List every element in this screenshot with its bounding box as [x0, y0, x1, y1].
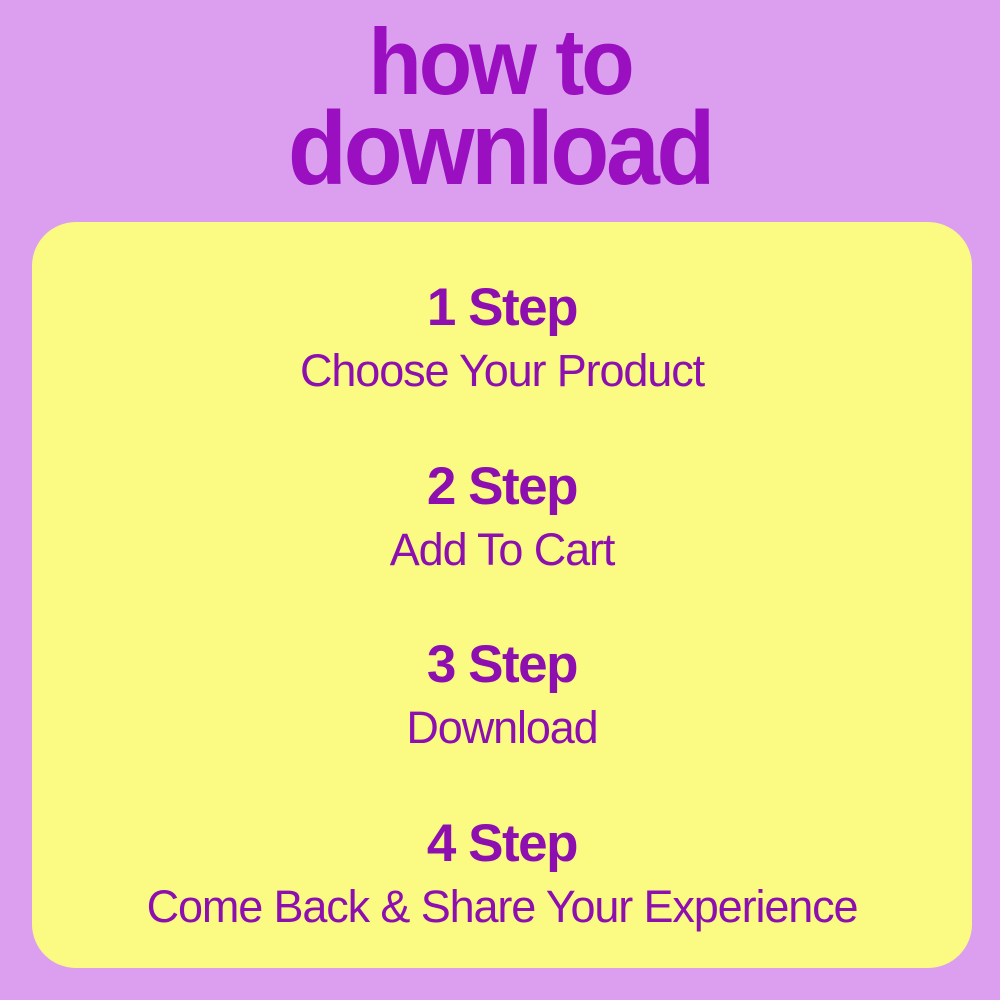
- step-item-2: 2 Step Add To Cart: [32, 459, 972, 576]
- step-2-title: 2 Step: [32, 459, 972, 514]
- step-4-description: Come Back & Share Your Experience: [32, 882, 972, 932]
- step-2-description: Add To Cart: [32, 525, 972, 575]
- step-3-description: Download: [32, 703, 972, 753]
- step-3-title: 3 Step: [32, 637, 972, 692]
- step-4-title: 4 Step: [32, 816, 972, 871]
- step-item-1: 1 Step Choose Your Product: [32, 280, 972, 397]
- title-line-download: download: [35, 105, 965, 194]
- step-item-3: 3 Step Download: [32, 637, 972, 754]
- steps-list: 1 Step Choose Your Product 2 Step Add To…: [32, 222, 972, 968]
- step-item-4: 4 Step Come Back & Share Your Experience: [32, 816, 972, 933]
- poster-canvas: how to download 1 Step Choose Your Produ…: [0, 0, 1000, 1000]
- steps-card: 1 Step Choose Your Product 2 Step Add To…: [32, 222, 972, 968]
- page-title: how to download: [0, 22, 1000, 194]
- step-1-title: 1 Step: [32, 280, 972, 335]
- step-1-description: Choose Your Product: [32, 346, 972, 396]
